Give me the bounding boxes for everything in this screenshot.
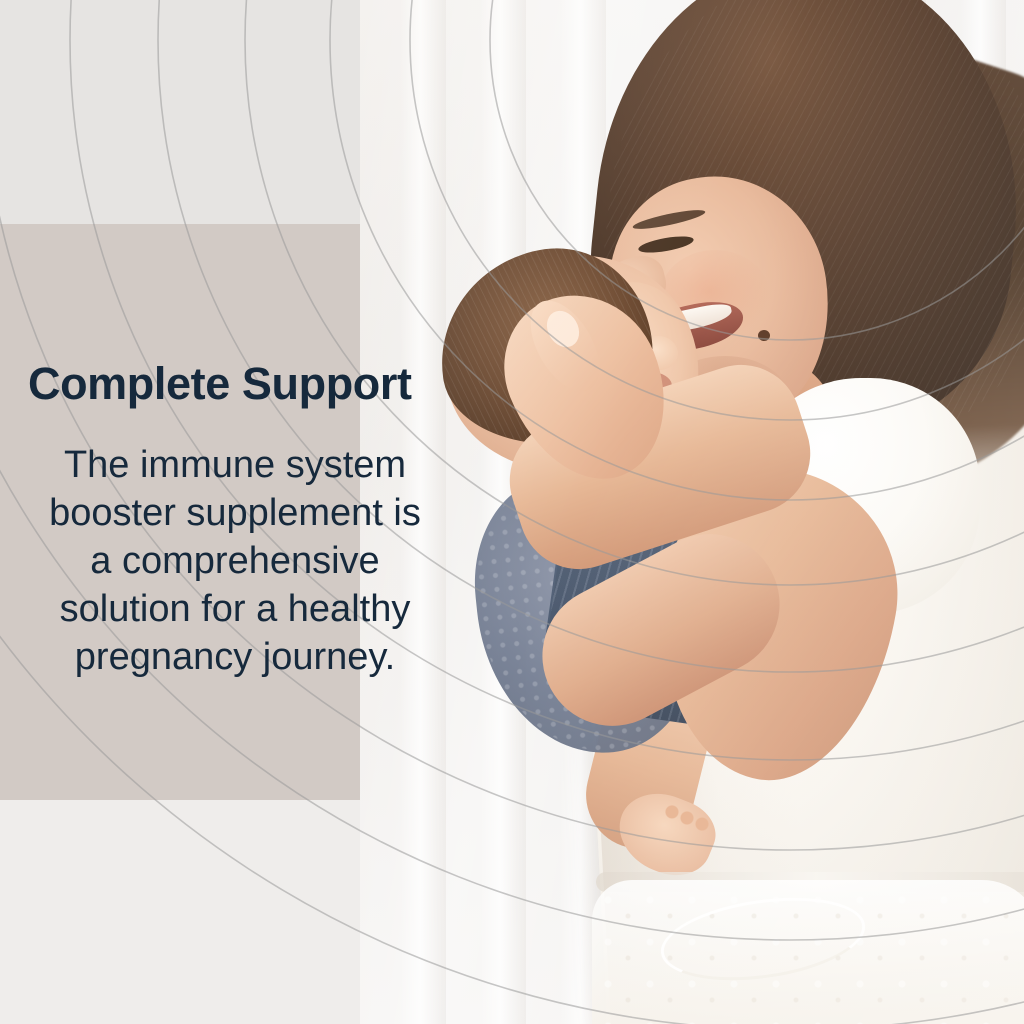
body-line: pregnancy journey. — [24, 633, 446, 681]
body-line: booster supplement is — [24, 489, 446, 537]
body-line: a comprehensive — [24, 537, 446, 585]
body-line: The immune system — [24, 441, 446, 489]
body-copy: The immune system booster supplement is … — [0, 441, 470, 681]
beauty-mark — [758, 330, 770, 341]
page-title: Complete Support — [28, 360, 470, 407]
promo-card: Complete Support The immune system boost… — [0, 0, 1024, 1024]
body-line: solution for a healthy — [24, 585, 446, 633]
copy-block: Complete Support The immune system boost… — [0, 360, 470, 681]
